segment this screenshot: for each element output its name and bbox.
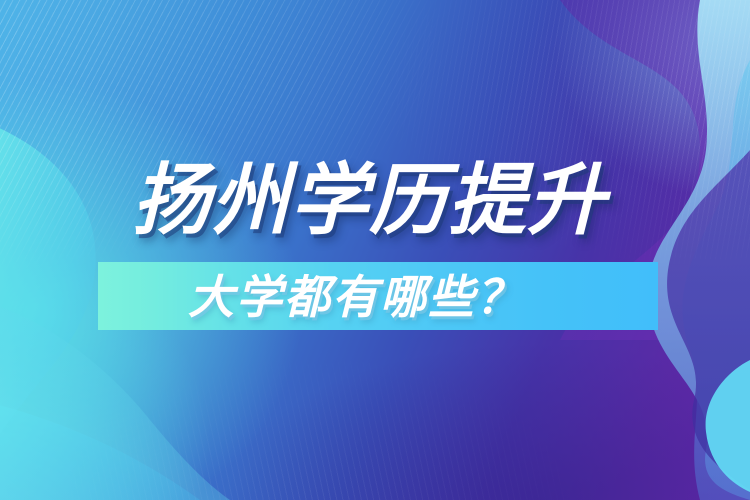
promo-banner: 扬州学历提升 大学都有哪些？ — [0, 0, 750, 500]
banner-content: 扬州学历提升 大学都有哪些？ — [0, 0, 750, 500]
banner-headline: 扬州学历提升 — [132, 152, 606, 248]
banner-subtitle: 大学都有哪些？ — [188, 269, 524, 325]
